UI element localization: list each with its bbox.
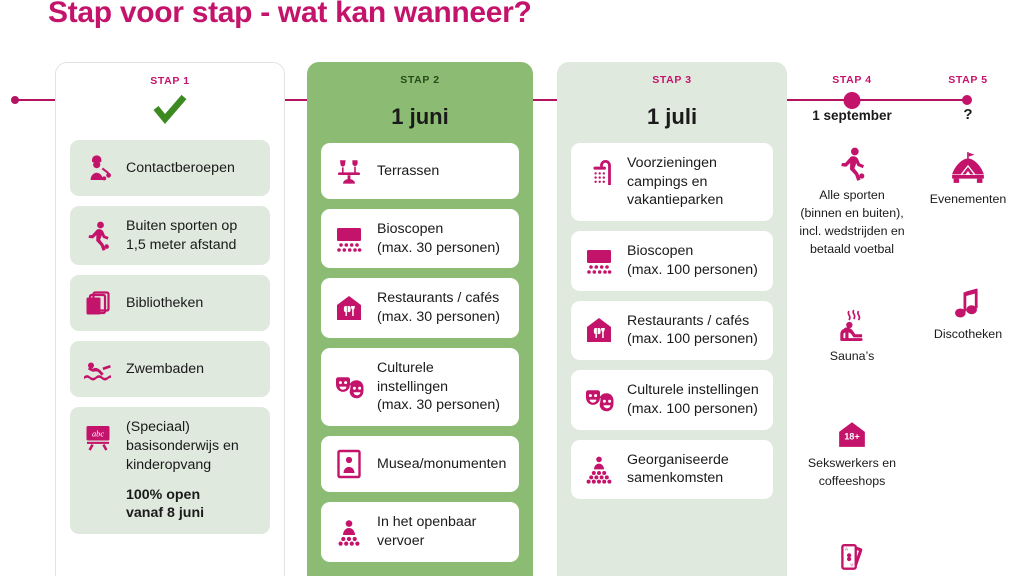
step-date-4: 1 september — [797, 108, 907, 123]
sauna-icon — [797, 304, 907, 342]
list-item-label: In het openbaar vervoer — [377, 513, 507, 550]
cinema-screen-icon — [333, 222, 365, 256]
outdoor-sports-icon — [82, 219, 114, 253]
step-column-3: STAP 3 1 juli Voorzienin — [557, 62, 787, 576]
step-label-3: STAP 3 — [557, 62, 787, 86]
list-item[interactable]: Evenementen — [913, 147, 1023, 208]
list-item-label: Discotheken — [934, 327, 1002, 341]
list-item-label: Bibliotheken — [126, 294, 203, 313]
list-item[interactable]: Alle sporten (binnen en buiten), incl. w… — [797, 143, 907, 258]
step-label-1: STAP 1 — [56, 63, 284, 87]
svg-text:abc: abc — [92, 430, 104, 439]
step-date-5: ? — [913, 106, 1023, 123]
step-column-5: STAP 5 ? Evenementen — [913, 62, 1023, 343]
timeline-start-cap — [11, 96, 19, 104]
step-date-2: 1 juni — [307, 104, 533, 130]
list-item-label: Georganiseerde samenkomsten — [627, 451, 729, 488]
list-item-label: Voorzieningen campings en vakantieparken — [627, 154, 723, 210]
list-item[interactable]: Contactberoepen — [70, 140, 270, 196]
casino-cards-icon: A A — [797, 536, 907, 574]
svg-text:A: A — [850, 563, 853, 568]
svg-text:A: A — [845, 547, 848, 552]
list-item[interactable]: abc (Speciaal) basisonderwijs en kindero… — [70, 407, 270, 534]
list-item-label: Sauna’s — [830, 349, 875, 363]
step-label-5: STAP 5 — [913, 62, 1023, 86]
music-note-icon — [913, 282, 1023, 320]
theatre-masks-icon — [333, 370, 365, 404]
step-label-4: STAP 4 — [797, 62, 907, 86]
step-column-2: STAP 2 1 juni Terrassen — [307, 62, 533, 576]
list-item-label: Terrassen — [377, 162, 439, 181]
step-1-check — [56, 95, 284, 127]
list-item-label: Bioscopen (max. 30 personen) — [377, 220, 500, 257]
svg-text:18+: 18+ — [844, 431, 860, 441]
list-item[interactable]: 18+ Sekswerkers en coffeeshops — [797, 411, 907, 490]
list-item[interactable]: Bioscopen (max. 100 personen) — [571, 231, 773, 290]
step-label-2: STAP 2 — [307, 62, 533, 86]
infographic-page: Stap voor stap - wat kan wanneer? STAP 1 — [0, 0, 1024, 576]
adult-18plus-icon: 18+ — [797, 411, 907, 449]
check-icon — [153, 95, 187, 123]
list-item[interactable]: In het openbaar vervoer — [321, 502, 519, 561]
all-sports-icon — [797, 143, 907, 181]
swimmer-icon — [82, 352, 114, 386]
list-item[interactable]: Culturele instellingen (max. 100 persone… — [571, 370, 773, 429]
list-item[interactable]: Discotheken — [913, 282, 1023, 343]
restaurant-house-icon — [333, 291, 365, 325]
list-item[interactable]: Restaurants / cafés (max. 30 personen) — [321, 278, 519, 337]
list-item-label: Bioscopen (max. 100 personen) — [627, 242, 758, 279]
list-item-label: (Speciaal) basisonderwijs en kinderopvan… — [126, 418, 239, 523]
list-item[interactable]: A A Casino’s — [797, 536, 907, 576]
terrace-table-icon — [333, 154, 365, 188]
list-item-label: Alle sporten (binnen en buiten), incl. w… — [799, 188, 904, 256]
list-item[interactable]: Sauna’s — [797, 304, 907, 365]
museum-frame-icon — [333, 447, 365, 481]
list-item-label: Contactberoepen — [126, 159, 235, 178]
list-item[interactable]: Voorzieningen campings en vakantieparken — [571, 143, 773, 221]
school-board-icon: abc — [82, 420, 114, 454]
gathering-people-icon — [583, 452, 615, 486]
list-item-label: Evenementen — [930, 192, 1006, 206]
page-title: Stap voor stap - wat kan wanneer? — [48, 0, 532, 30]
list-item-label: Restaurants / cafés (max. 30 personen) — [377, 289, 500, 326]
shower-icon — [583, 156, 615, 190]
list-item-label: Sekswerkers en coffeeshops — [808, 456, 896, 488]
list-item-label: Culturele instellingen (max. 30 personen… — [377, 359, 507, 415]
step-date-3: 1 juli — [557, 104, 787, 130]
list-item[interactable]: Musea/monumenten — [321, 436, 519, 492]
list-item[interactable]: Zwembaden — [70, 341, 270, 397]
step-column-4: STAP 4 1 september Alle sporten (binnen … — [797, 62, 907, 576]
cinema-screen-icon — [583, 244, 615, 278]
list-item-label: Restaurants / cafés (max. 100 personen) — [627, 312, 758, 349]
hairdresser-icon — [82, 151, 114, 185]
list-item[interactable]: Bioscopen (max. 30 personen) — [321, 209, 519, 268]
list-item-label: Culturele instellingen (max. 100 persone… — [627, 381, 759, 418]
list-item[interactable]: Bibliotheken — [70, 275, 270, 331]
list-item-label: Zwembaden — [126, 360, 204, 379]
list-item[interactable]: Culturele instellingen (max. 30 personen… — [321, 348, 519, 426]
theatre-masks-icon — [583, 383, 615, 417]
list-item-label: Buiten sporten op 1,5 meter afstand — [126, 217, 237, 254]
step-column-1: STAP 1 — [55, 62, 285, 576]
list-item[interactable]: Buiten sporten op 1,5 meter afstand — [70, 206, 270, 265]
list-item-label: Musea/monumenten — [377, 455, 506, 474]
list-item[interactable]: Restaurants / cafés (max. 100 personen) — [571, 301, 773, 360]
event-tent-icon — [913, 147, 1023, 185]
list-item[interactable]: Terrassen — [321, 143, 519, 199]
public-transport-icon — [333, 515, 365, 549]
list-item[interactable]: Georganiseerde samenkomsten — [571, 440, 773, 499]
library-books-icon — [82, 286, 114, 320]
restaurant-house-icon — [583, 313, 615, 347]
